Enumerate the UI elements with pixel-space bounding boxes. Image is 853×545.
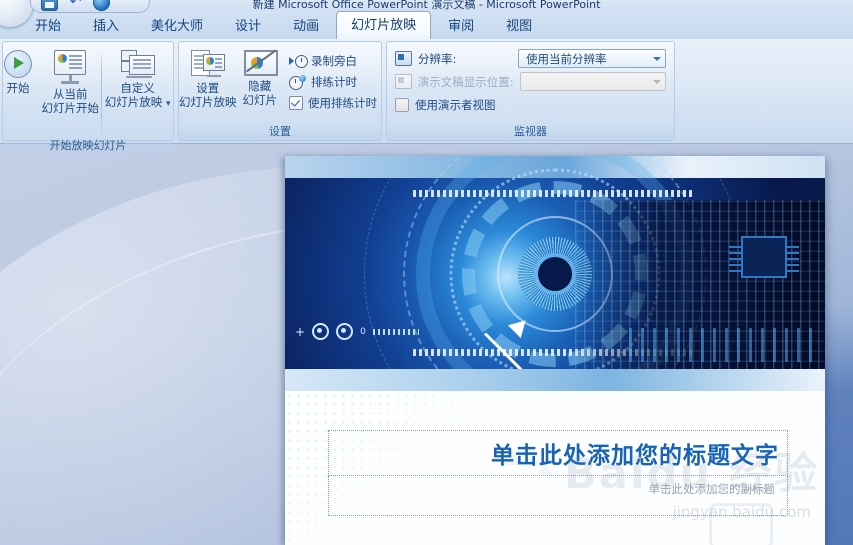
play-circle-icon: [4, 50, 32, 78]
setup-command-list: 录制旁白 排练计时 使用排练计时: [283, 46, 381, 112]
show-presentation-on-combobox[interactable]: [520, 72, 666, 91]
setup-show-icon: [191, 50, 225, 78]
custom-slide-show-button[interactable]: 自定义 幻灯片放映 ▾: [102, 46, 173, 111]
ribbon-group-setup: 设置 幻灯片放映 隐藏 幻灯片 录制旁白: [178, 41, 382, 141]
use-presenter-view-label: 使用演示者视图: [415, 97, 496, 113]
save-icon[interactable]: [41, 0, 58, 11]
title-placeholder[interactable]: 单击此处添加您的标题文字: [328, 430, 788, 476]
hide-slide-icon: [244, 50, 276, 76]
ribbon-group-start-show: 开始 从当前 幻灯片开始: [2, 41, 174, 141]
tab-slide-show[interactable]: 幻灯片放映: [336, 11, 431, 39]
group-label-setup: 设置: [179, 124, 381, 140]
tab-view[interactable]: 视图: [491, 14, 547, 39]
resolution-icon: [395, 51, 412, 66]
hide-slide-button[interactable]: 隐藏 幻灯片: [237, 46, 284, 107]
setup-slide-show-button[interactable]: 设置 幻灯片放映: [179, 46, 237, 109]
custom-show-icon: [121, 50, 155, 78]
slide-hero-image: + 0: [285, 156, 825, 391]
checkbox-icon[interactable]: [395, 98, 409, 112]
subtitle-placeholder-text: 单击此处添加您的副标题: [649, 481, 776, 497]
hero-core: + 0: [285, 178, 825, 370]
use-timings-checkbox[interactable]: 使用排练计时: [289, 94, 377, 112]
ribbon-group-monitors: 分辨率: 使用当前分辨率 演示文稿显示位置: 使用演示: [386, 41, 675, 141]
rehearse-timings-icon: [289, 75, 306, 90]
hud-target-icon-2: [336, 323, 353, 340]
record-narration-icon: [289, 54, 306, 69]
chevron-down-icon[interactable]: [653, 57, 661, 61]
tab-review[interactable]: 审阅: [433, 14, 489, 39]
rehearse-timings-button[interactable]: 排练计时: [289, 73, 377, 91]
hero-chevrons: [629, 328, 819, 362]
hero-hud-markers: + 0: [295, 323, 419, 340]
group-label-monitors: 监视器: [387, 124, 674, 140]
monitor-chart-icon: [54, 50, 86, 84]
tab-animations[interactable]: 动画: [278, 14, 334, 39]
resolution-combobox[interactable]: 使用当前分辨率: [518, 49, 666, 68]
undo-icon[interactable]: ↶: [68, 0, 83, 10]
slide-canvas[interactable]: + 0 单击此处添加您的标题文字 单击此处添加您的副标题 Baidu 经验 ji…: [285, 156, 825, 545]
display-location-icon: [395, 74, 412, 89]
hero-circuit-board: [575, 200, 825, 391]
right-panel-edge: [825, 143, 853, 545]
subtitle-placeholder[interactable]: 单击此处添加您的副标题: [328, 476, 788, 516]
ribbon: 开始 从当前 幻灯片开始: [0, 39, 853, 144]
tab-insert[interactable]: 插入: [78, 14, 134, 39]
tab-beautify-master[interactable]: 美化大师: [136, 14, 218, 39]
hero-bottom-band: [285, 369, 825, 391]
ribbon-tab-strip: 开始 插入 美化大师 设计 动画 幻灯片放映 审阅 视图: [0, 11, 853, 40]
resolution-label: 分辨率:: [418, 51, 456, 67]
from-beginning-button[interactable]: 开始: [0, 46, 39, 95]
resolution-value: 使用当前分辨率: [526, 51, 607, 67]
record-narration-button[interactable]: 录制旁白: [289, 52, 377, 70]
quick-access-toolbar: ↶: [30, 0, 150, 13]
ribbon-tabs: 开始 插入 美化大师 设计 动画 幻灯片放映 审阅 视图: [20, 11, 549, 39]
hud-plus-icon: +: [295, 327, 305, 337]
from-current-slide-button[interactable]: 从当前 幻灯片开始: [39, 46, 101, 115]
use-presenter-view-checkbox[interactable]: 使用演示者视图: [395, 95, 496, 115]
show-presentation-on-label: 演示文稿显示位置:: [418, 74, 514, 90]
tab-design[interactable]: 设计: [220, 14, 276, 39]
chevron-down-icon[interactable]: ▾: [166, 99, 171, 109]
checkbox-icon[interactable]: [289, 96, 303, 110]
redo-icon[interactable]: [93, 0, 110, 11]
hud-zero-label: 0: [360, 327, 366, 337]
hud-bars: [373, 329, 419, 335]
title-placeholder-text: 单击此处添加您的标题文字: [491, 436, 779, 470]
hud-aperture-center: [538, 257, 572, 291]
hud-target-icon-1: [312, 323, 329, 340]
group-label-start-show: 开始放映幻灯片: [3, 138, 173, 154]
hero-chip-icon: [741, 236, 787, 278]
chevron-down-icon[interactable]: [653, 80, 661, 84]
hero-dash-text-top: [413, 190, 693, 197]
